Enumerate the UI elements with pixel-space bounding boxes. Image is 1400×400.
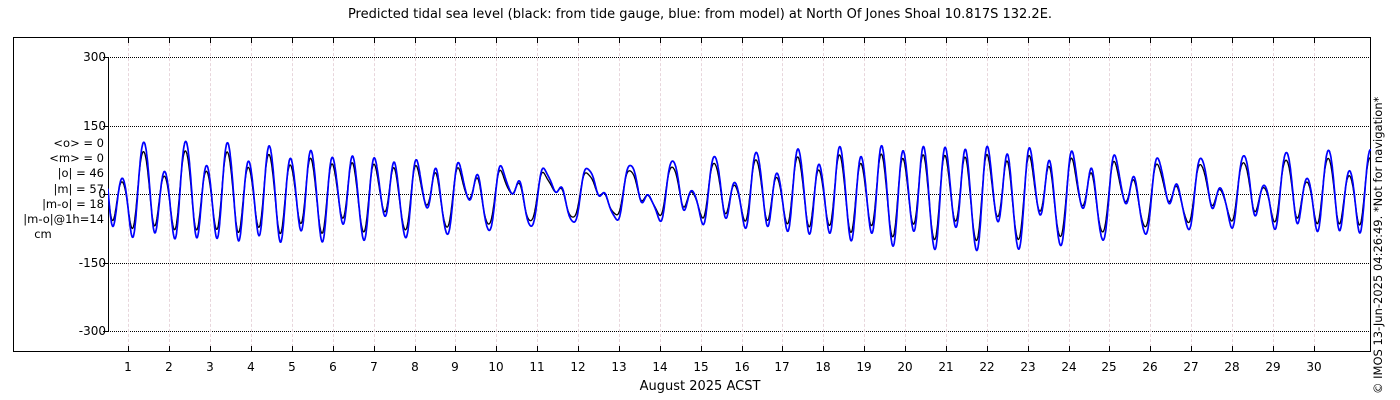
stat-mean-observed: <o> = 0 (0, 136, 104, 151)
x-tick-mark-top (415, 38, 416, 43)
x-tick-label: 14 (640, 360, 680, 374)
x-tick-mark-top (905, 38, 906, 43)
page-title: Predicted tidal sea level (black: from t… (0, 7, 1400, 23)
x-tick-mark-top (537, 38, 538, 43)
x-tick-mark-top (782, 38, 783, 43)
x-tick-mark-top (1191, 38, 1192, 43)
x-tick-label: 30 (1294, 360, 1334, 374)
x-tick-mark-top (578, 38, 579, 43)
x-tick-mark-bottom (701, 346, 702, 352)
x-tick-label: 6 (313, 360, 353, 374)
x-tick-mark-bottom (660, 346, 661, 352)
x-tick-mark-top (210, 38, 211, 43)
x-tick-label: 12 (558, 360, 598, 374)
x-tick-mark-top (864, 38, 865, 43)
x-tick-mark-top (169, 38, 170, 43)
x-tick-label: 11 (517, 360, 557, 374)
x-tick-label: 18 (803, 360, 843, 374)
copyright-text: © IMOS 13-Jun-2025 04:26:49. *Not for na… (1372, 97, 1384, 394)
x-tick-mark-bottom (374, 346, 375, 352)
x-tick-label: 29 (1253, 360, 1293, 374)
x-tick-label: 16 (722, 360, 762, 374)
x-tick-mark-bottom (782, 346, 783, 352)
y-tick-label: 150 (60, 120, 106, 132)
x-axis-title: August 2025 ACST (0, 379, 1400, 395)
x-tick-mark-bottom (1232, 346, 1233, 352)
x-tick-mark-bottom (1069, 346, 1070, 352)
x-tick-label: 22 (967, 360, 1007, 374)
x-tick-mark-top (1028, 38, 1029, 43)
x-tick-mark-top (742, 38, 743, 43)
x-tick-mark-top (701, 38, 702, 43)
x-tick-mark-top (292, 38, 293, 43)
x-tick-label: 13 (599, 360, 639, 374)
x-tick-mark-top (823, 38, 824, 43)
x-tick-mark-bottom (578, 346, 579, 352)
x-tick-mark-top (1109, 38, 1110, 43)
x-tick-label: 10 (476, 360, 516, 374)
x-tick-label: 20 (885, 360, 925, 374)
x-tick-mark-bottom (1028, 346, 1029, 352)
x-tick-mark-top (619, 38, 620, 43)
x-tick-mark-bottom (1109, 346, 1110, 352)
plot-area (108, 57, 1371, 331)
x-tick-mark-bottom (1314, 346, 1315, 352)
x-tick-label: 2 (149, 360, 189, 374)
x-tick-mark-bottom (333, 346, 334, 352)
x-tick-label: 7 (354, 360, 394, 374)
x-tick-mark-top (660, 38, 661, 43)
x-tick-mark-bottom (1191, 346, 1192, 352)
x-tick-mark-top (1273, 38, 1274, 43)
x-tick-mark-bottom (169, 346, 170, 352)
x-tick-label: 1 (108, 360, 148, 374)
x-tick-mark-top (1232, 38, 1233, 43)
x-tick-mark-top (333, 38, 334, 43)
x-tick-mark-bottom (292, 346, 293, 352)
x-tick-mark-bottom (946, 346, 947, 352)
x-tick-label: 28 (1212, 360, 1252, 374)
x-tick-mark-top (1314, 38, 1315, 43)
y-tick-label: 0 (60, 188, 106, 200)
y-tick-label: -300 (60, 325, 106, 337)
x-tick-label: 8 (395, 360, 435, 374)
x-tick-label: 17 (762, 360, 802, 374)
x-tick-mark-bottom (905, 346, 906, 352)
x-tick-mark-bottom (251, 346, 252, 352)
x-tick-mark-top (455, 38, 456, 43)
x-tick-mark-bottom (864, 346, 865, 352)
stat-abs-observed: |o| = 46 (0, 166, 104, 181)
x-tick-mark-top (987, 38, 988, 43)
x-tick-mark-bottom (987, 346, 988, 352)
x-tick-label: 23 (1008, 360, 1048, 374)
stat-abs-difference-1h: |m-o|@1h=14 (0, 212, 104, 227)
series-line-model (108, 141, 1371, 250)
x-tick-label: 24 (1049, 360, 1089, 374)
tidal-series-plot (108, 57, 1371, 331)
x-tick-mark-top (1150, 38, 1151, 43)
x-tick-mark-top (374, 38, 375, 43)
y-tick-label: -150 (60, 257, 106, 269)
x-tick-mark-bottom (496, 346, 497, 352)
x-tick-label: 9 (435, 360, 475, 374)
x-tick-label: 3 (190, 360, 230, 374)
x-tick-mark-bottom (1273, 346, 1274, 352)
x-tick-mark-bottom (619, 346, 620, 352)
x-tick-mark-bottom (415, 346, 416, 352)
copyright-note: © IMOS 13-Jun-2025 04:26:49. *Not for na… (1380, 0, 1400, 400)
x-tick-mark-bottom (128, 346, 129, 352)
x-tick-mark-bottom (823, 346, 824, 352)
x-tick-label: 19 (844, 360, 884, 374)
horizontal-gridline (110, 331, 1371, 333)
stat-units: cm (0, 227, 104, 242)
x-tick-mark-bottom (537, 346, 538, 352)
x-tick-mark-bottom (1150, 346, 1151, 352)
x-tick-mark-top (496, 38, 497, 43)
x-tick-label: 27 (1171, 360, 1211, 374)
x-tick-label: 21 (926, 360, 966, 374)
x-tick-label: 26 (1130, 360, 1170, 374)
x-tick-label: 15 (681, 360, 721, 374)
x-tick-mark-top (1069, 38, 1070, 43)
x-tick-label: 25 (1089, 360, 1129, 374)
x-tick-mark-bottom (210, 346, 211, 352)
x-tick-label: 4 (231, 360, 271, 374)
x-tick-mark-bottom (742, 346, 743, 352)
stat-mean-model: <m> = 0 (0, 151, 104, 166)
x-tick-label: 5 (272, 360, 312, 374)
y-tick-label: 300 (60, 51, 106, 63)
x-tick-mark-top (251, 38, 252, 43)
x-tick-mark-top (946, 38, 947, 43)
x-tick-mark-top (128, 38, 129, 43)
x-tick-mark-bottom (455, 346, 456, 352)
